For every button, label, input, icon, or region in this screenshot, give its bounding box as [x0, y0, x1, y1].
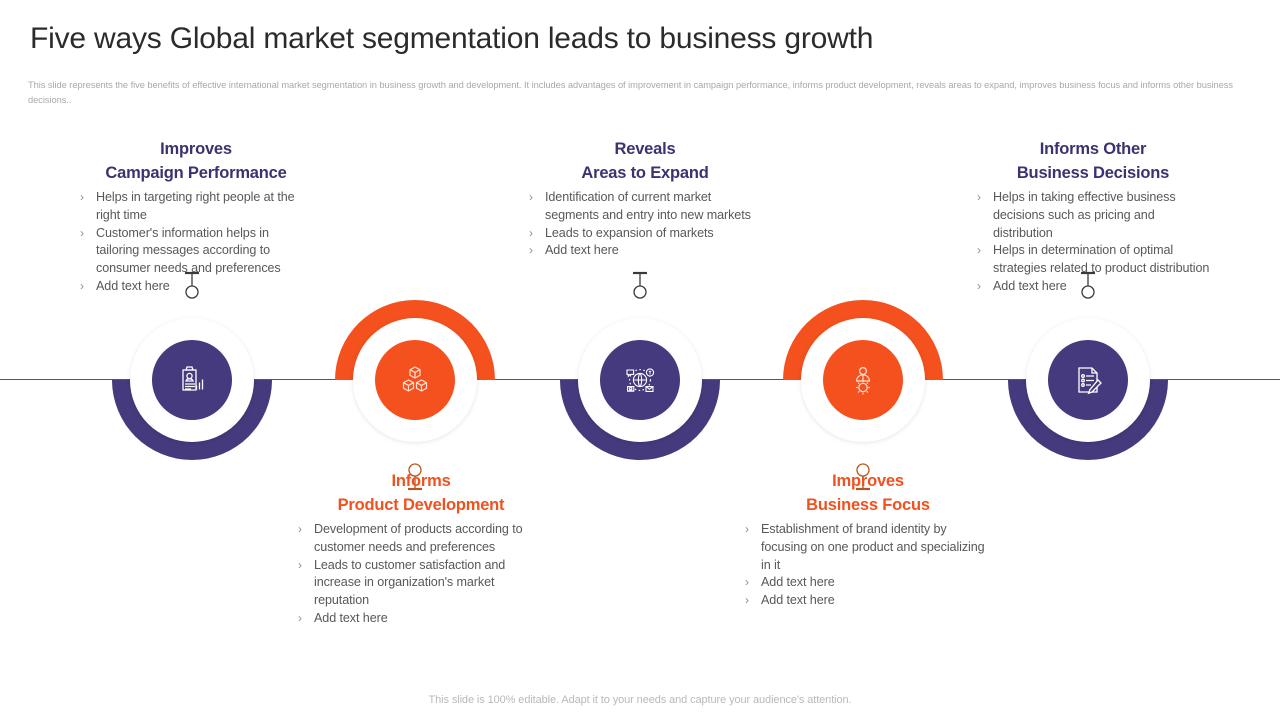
- step-heading-2-line2: Product Development: [338, 496, 505, 514]
- step-heading-5: Informs Other Business Decisions: [975, 138, 1211, 185]
- stacked-boxes-icon: [375, 340, 455, 420]
- chevron-right-icon: ›: [977, 278, 981, 296]
- chevron-right-icon: ›: [80, 278, 84, 296]
- list-item: ›Add text here: [743, 574, 993, 592]
- timeline-marker-2[interactable]: [335, 300, 495, 460]
- timeline-marker-4[interactable]: [783, 300, 943, 460]
- list-item: ›Helps in determination of optimal strat…: [975, 242, 1211, 278]
- step-heading-4-line1: Improves: [832, 472, 904, 490]
- step-bullet-list-3: ›Identification of current market segmen…: [527, 189, 763, 260]
- step-block-5: Informs Other Business Decisions ›Helps …: [975, 138, 1211, 296]
- person-gear-icon: [823, 340, 903, 420]
- chevron-right-icon: ›: [745, 592, 749, 610]
- list-item: ›Customer's information helps in tailori…: [78, 225, 314, 278]
- step-heading-3: Reveals Areas to Expand: [527, 138, 763, 185]
- list-item: ›Development of products according to cu…: [296, 521, 546, 557]
- list-item: ›Add text here: [743, 592, 993, 610]
- step-block-3: Reveals Areas to Expand ›Identification …: [527, 138, 763, 260]
- page-title: Five ways Global market segmentation lea…: [30, 22, 1250, 56]
- step-heading-1-line1: Improves: [160, 140, 232, 158]
- list-item: ›Leads to customer satisfaction and incr…: [296, 557, 546, 610]
- slide-footer-note: This slide is 100% editable. Adapt it to…: [0, 694, 1280, 706]
- step-heading-5-line1: Informs Other: [1040, 140, 1147, 158]
- list-item: ›Add text here: [296, 610, 546, 628]
- chevron-right-icon: ›: [529, 242, 533, 260]
- chevron-right-icon: ›: [298, 557, 302, 575]
- chevron-right-icon: ›: [745, 521, 749, 539]
- globe-communication-icon: [600, 340, 680, 420]
- step-heading-1: Improves Campaign Performance: [78, 138, 314, 185]
- timeline-marker-1[interactable]: [112, 300, 272, 460]
- step-bullet-list-4: ›Establishment of brand identity by focu…: [743, 521, 993, 610]
- list-item: ›Helps in targeting right people at the …: [78, 189, 314, 225]
- list-item: ›Leads to expansion of markets: [527, 225, 763, 243]
- list-item: ›Add text here: [527, 242, 763, 260]
- step-heading-5-line2: Business Decisions: [1017, 164, 1169, 182]
- step-bullet-list-5: ›Helps in taking effective business deci…: [975, 189, 1211, 296]
- slide-canvas: Five ways Global market segmentation lea…: [0, 0, 1280, 720]
- chevron-right-icon: ›: [298, 521, 302, 539]
- chevron-right-icon: ›: [529, 189, 533, 207]
- chevron-right-icon: ›: [977, 189, 981, 207]
- step-block-4: Improves Business Focus ›Establishment o…: [743, 470, 993, 610]
- chevron-right-icon: ›: [745, 574, 749, 592]
- list-item: ›Establishment of brand identity by focu…: [743, 521, 993, 574]
- list-item: ›Identification of current market segmen…: [527, 189, 763, 225]
- timeline-marker-3[interactable]: [560, 300, 720, 460]
- page-subtitle: This slide represents the five benefits …: [28, 78, 1233, 108]
- step-heading-4: Improves Business Focus: [743, 470, 993, 517]
- step-heading-2-line1: Informs: [391, 472, 450, 490]
- chevron-right-icon: ›: [529, 225, 533, 243]
- clipboard-person-bar-chart-icon: [152, 340, 232, 420]
- step-block-1: Improves Campaign Performance ›Helps in …: [78, 138, 314, 296]
- list-item: ›Add text here: [975, 278, 1211, 296]
- timeline-marker-5[interactable]: [1008, 300, 1168, 460]
- step-bullet-list-2: ›Development of products according to cu…: [296, 521, 546, 628]
- step-bullet-list-1: ›Helps in targeting right people at the …: [78, 189, 314, 296]
- step-heading-1-line2: Campaign Performance: [105, 164, 286, 182]
- step-block-2: Informs Product Development ›Development…: [296, 470, 546, 628]
- step-heading-3-line2: Areas to Expand: [581, 164, 708, 182]
- document-checklist-pen-icon: [1048, 340, 1128, 420]
- chevron-right-icon: ›: [80, 225, 84, 243]
- marker-pin-3: [625, 270, 655, 304]
- list-item: ›Add text here: [78, 278, 314, 296]
- step-heading-3-line1: Reveals: [615, 140, 676, 158]
- chevron-right-icon: ›: [298, 610, 302, 628]
- chevron-right-icon: ›: [80, 189, 84, 207]
- step-heading-2: Informs Product Development: [296, 470, 546, 517]
- list-item: ›Helps in taking effective business deci…: [975, 189, 1211, 242]
- chevron-right-icon: ›: [977, 242, 981, 260]
- step-heading-4-line2: Business Focus: [806, 496, 930, 514]
